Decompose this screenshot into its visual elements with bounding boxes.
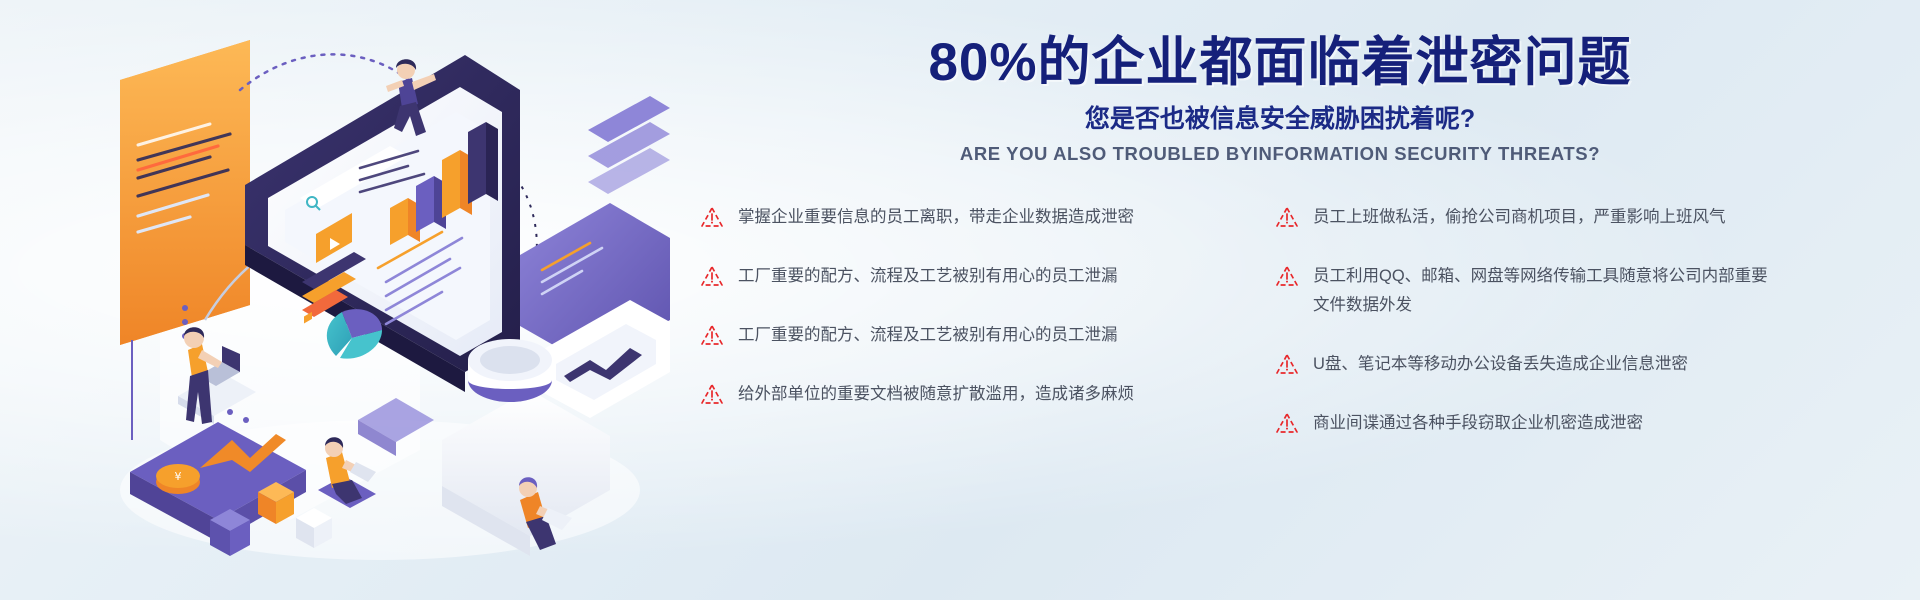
list-item: U盘、笔记本等移动办公设备丢失造成企业信息泄密 (1275, 350, 1785, 379)
right-bar-stack (588, 96, 670, 194)
warning-triangle-icon (700, 264, 724, 288)
warning-triangle-icon (1275, 411, 1299, 435)
list-item: 工厂重要的配方、流程及工艺被别有用心的员工泄漏 (700, 262, 1210, 291)
warning-triangle-icon (700, 382, 724, 406)
list-item: 商业间谍通过各种手段窃取企业机密造成泄密 (1275, 409, 1785, 438)
banner-content: 80%的企业都面临着泄密问题 您是否也被信息安全威胁困扰着呢? ARE YOU … (700, 32, 1860, 572)
warning-triangle-icon (1275, 205, 1299, 229)
warning-triangle-icon (1275, 352, 1299, 376)
warning-triangle-icon (700, 323, 724, 347)
list-item: 掌握企业重要信息的员工离职，带走企业数据造成泄密 (700, 203, 1210, 232)
list-item-label: 员工利用QQ、邮箱、网盘等网络传输工具随意将公司内部重要文件数据外发 (1313, 262, 1768, 320)
list-item-label: 掌握企业重要信息的员工离职，带走企业数据造成泄密 (738, 203, 1134, 232)
list-item-label: 工厂重要的配方、流程及工艺被别有用心的员工泄漏 (738, 262, 1118, 291)
isometric-data-analytics-illustration: ¥ (90, 20, 670, 580)
list-item-label: U盘、笔记本等移动办公设备丢失造成企业信息泄密 (1313, 350, 1688, 379)
bullet-column-left: 掌握企业重要信息的员工离职，带走企业数据造成泄密 工厂重要的配方、流程及工艺被别… (700, 203, 1210, 468)
list-item-label: 工厂重要的配方、流程及工艺被别有用心的员工泄漏 (738, 321, 1118, 350)
bullet-column-right: 员工上班做私活，偷抢公司商机项目，严重影响上班风气 员工利用QQ、邮箱、网盘等网… (1275, 203, 1785, 468)
list-item-label: 给外部单位的重要文档被随意扩散滥用，造成诸多麻烦 (738, 380, 1134, 409)
list-item: 给外部单位的重要文档被随意扩散滥用，造成诸多麻烦 (700, 380, 1210, 409)
list-item: 员工上班做私活，偷抢公司商机项目，严重影响上班风气 (1275, 203, 1785, 232)
warning-triangle-icon (700, 205, 724, 229)
list-item-label: 员工上班做私活，偷抢公司商机项目，严重影响上班风气 (1313, 203, 1726, 232)
list-item: 工厂重要的配方、流程及工艺被别有用心的员工泄漏 (700, 321, 1210, 350)
risk-bullet-columns: 掌握企业重要信息的员工离职，带走企业数据造成泄密 工厂重要的配方、流程及工艺被别… (700, 203, 1860, 468)
page-title: 80%的企业都面临着泄密问题 (845, 32, 1715, 94)
svg-text:¥: ¥ (175, 470, 182, 483)
list-item: 员工利用QQ、邮箱、网盘等网络传输工具随意将公司内部重要文件数据外发 (1275, 262, 1785, 320)
subtitle: 您是否也被信息安全威胁困扰着呢? (845, 104, 1715, 134)
warning-triangle-icon (1275, 264, 1299, 288)
english-subtitle: ARE YOU ALSO TROUBLED BYINFORMATION SECU… (845, 143, 1715, 165)
promotional-banner: ¥ (0, 0, 1920, 600)
list-item-label: 商业间谍通过各种手段窃取企业机密造成泄密 (1313, 409, 1643, 438)
